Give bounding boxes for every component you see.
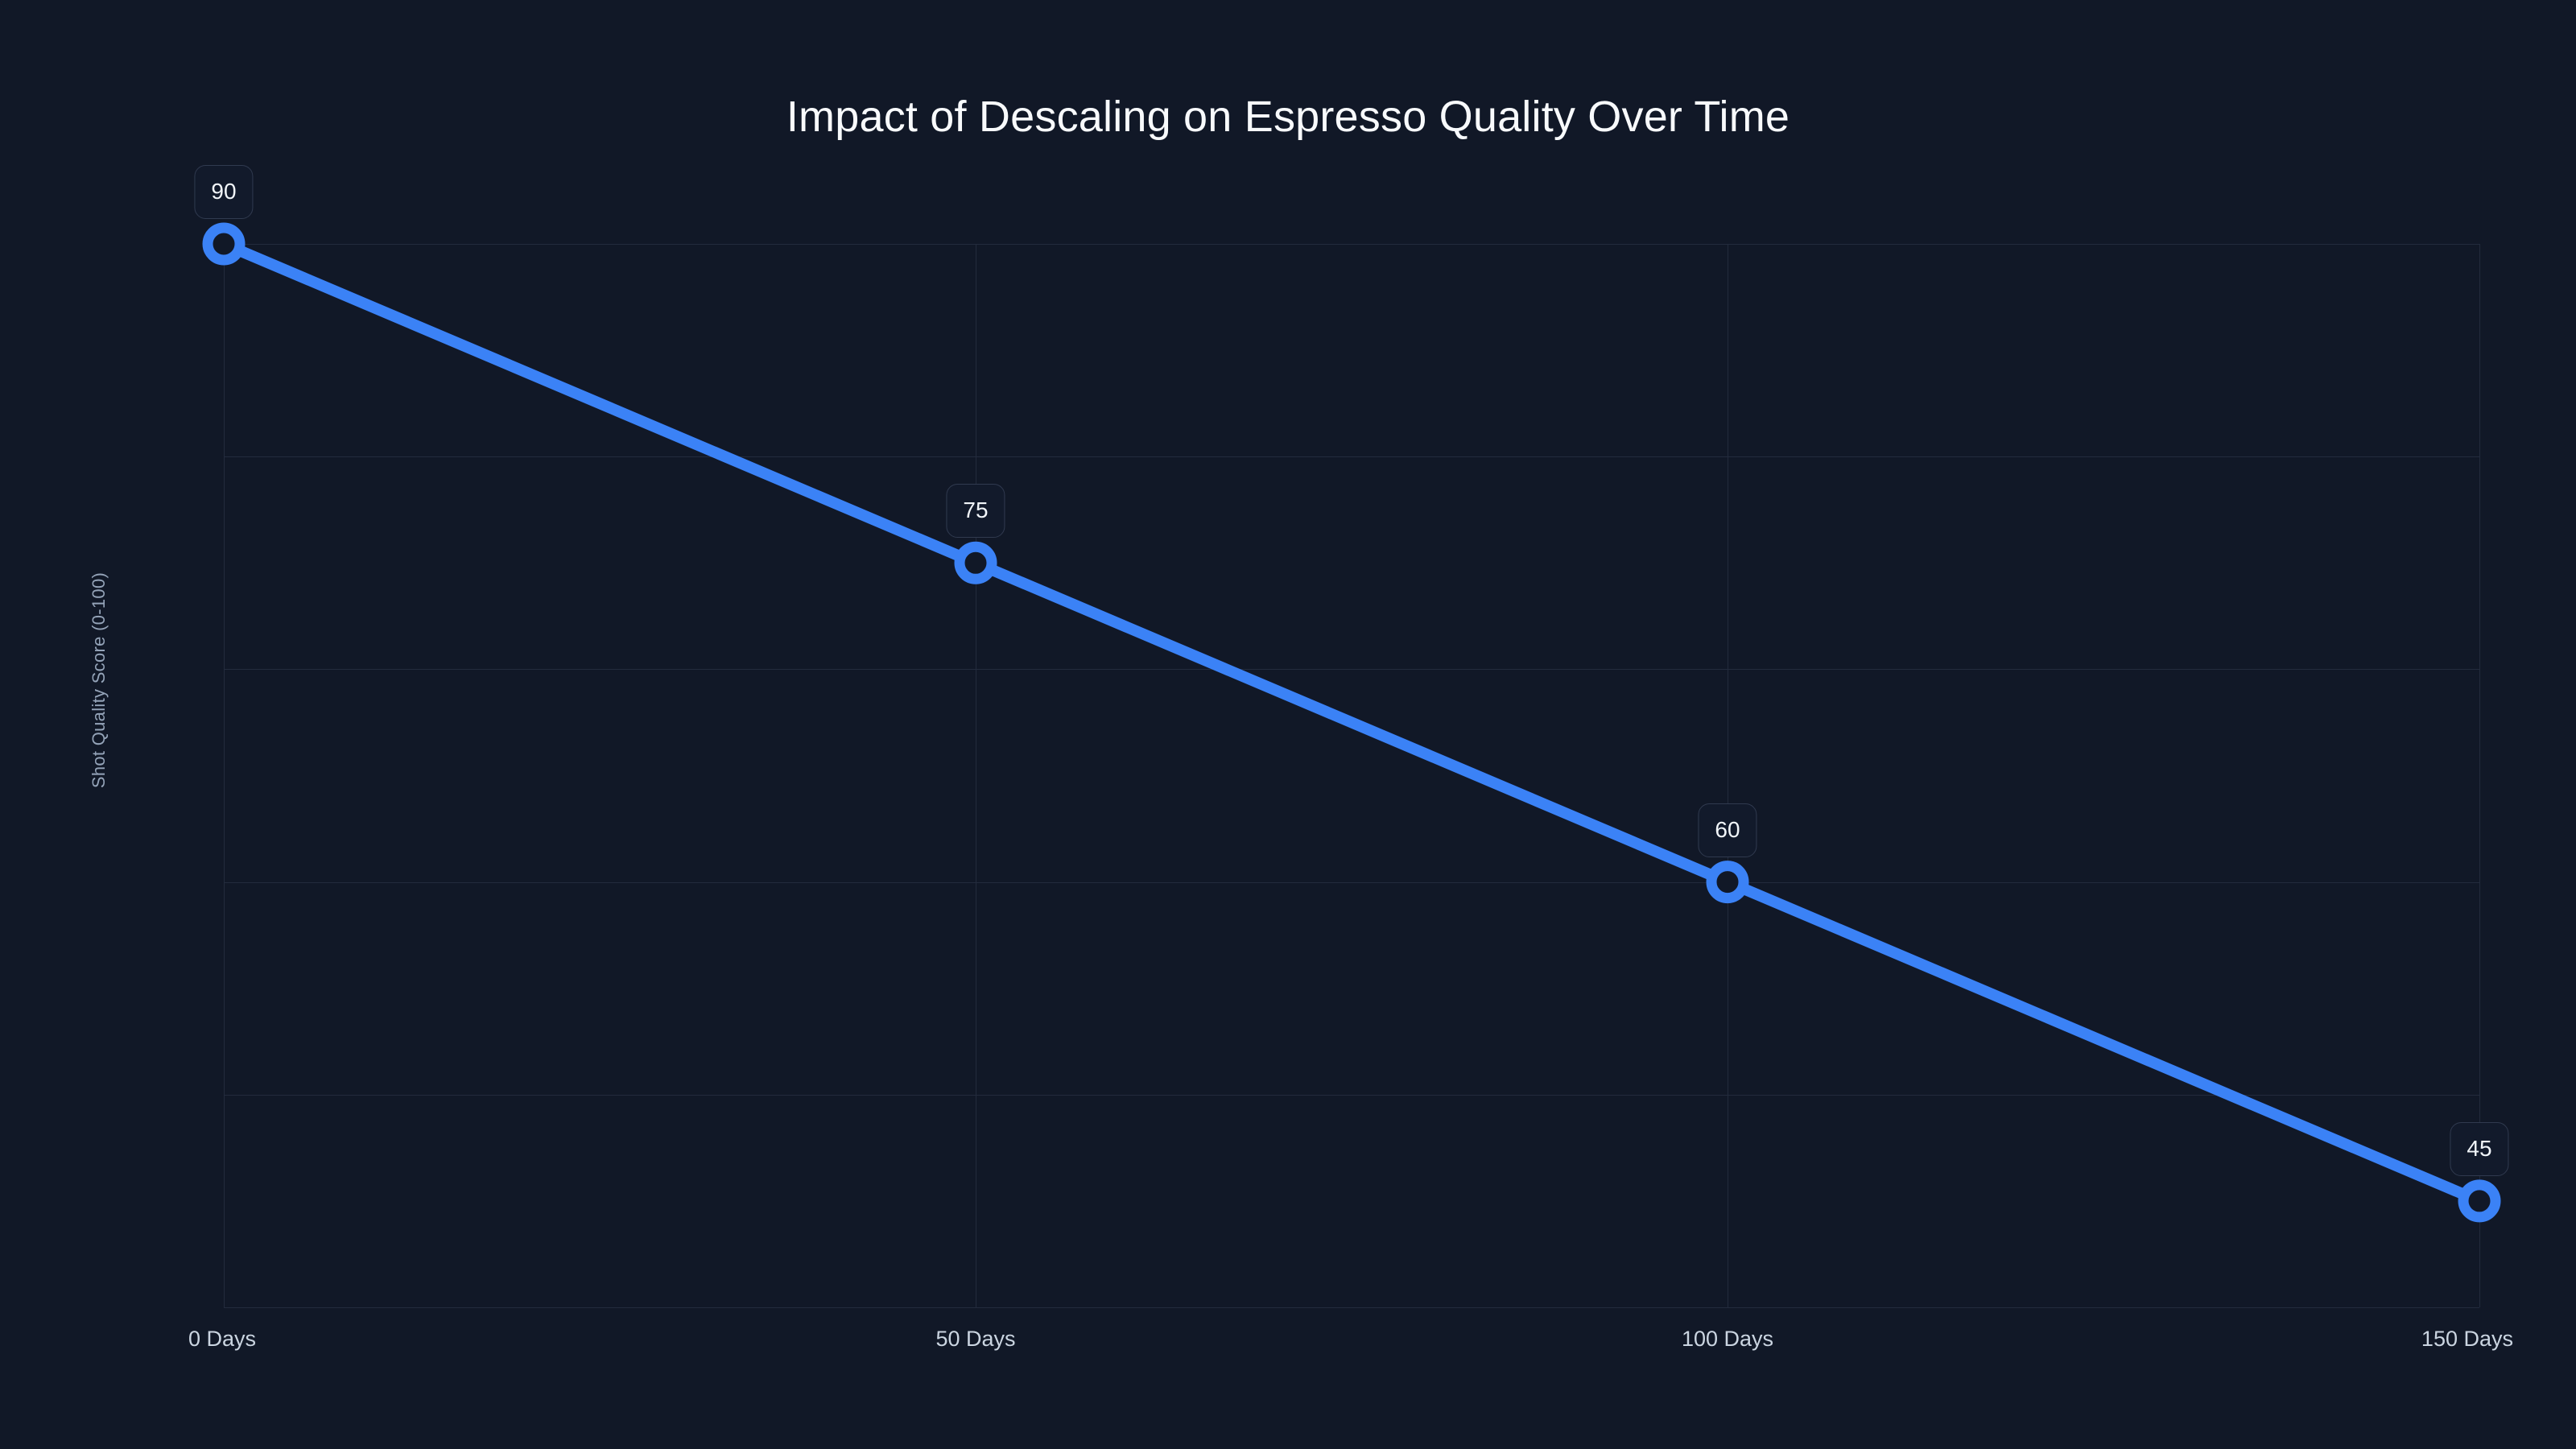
data-point-marker[interactable] (1711, 866, 1744, 898)
data-point-value-badge: 75 (946, 484, 1005, 538)
data-point-marker[interactable] (208, 228, 240, 260)
data-series-layer (0, 0, 2576, 1449)
data-point-value-badge: 45 (2450, 1122, 2508, 1176)
line-chart: Impact of Descaling on Espresso Quality … (0, 0, 2576, 1449)
data-point-marker[interactable] (960, 547, 992, 579)
data-point-marker[interactable] (2463, 1185, 2495, 1217)
data-point-value-badge: 60 (1698, 803, 1757, 857)
series-line (224, 244, 2479, 1201)
data-point-value-badge: 90 (194, 165, 253, 219)
